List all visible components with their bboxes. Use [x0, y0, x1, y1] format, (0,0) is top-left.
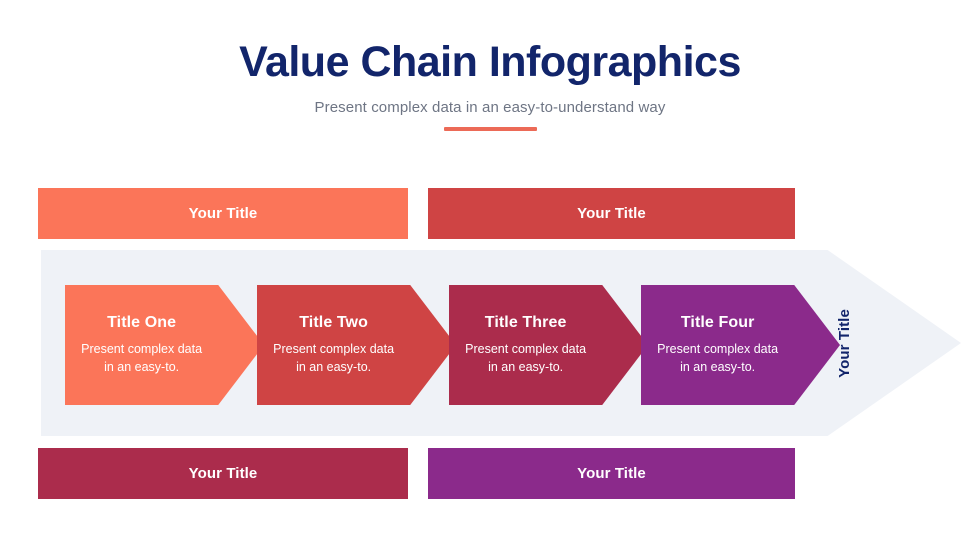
value-chain-step-4-title: Title Four [681, 314, 755, 332]
value-chain-step-1-description: Present complex data in an easy-to. [77, 341, 207, 377]
top-title-bar-2-label: Your Title [577, 205, 646, 222]
title-accent-underline [444, 127, 537, 131]
value-chain-step-1-content: Title One Present complex data in an eas… [65, 285, 218, 405]
value-chain-step-2-description: Present complex data in an easy-to. [269, 341, 399, 377]
bottom-title-bar-1-label: Your Title [189, 465, 258, 482]
page-title: Value Chain Infographics [0, 0, 980, 87]
value-chain-step-3-description: Present complex data in an easy-to. [461, 341, 591, 377]
bottom-title-bar-2[interactable]: Your Title [428, 448, 795, 499]
bottom-title-bar-2-label: Your Title [577, 465, 646, 482]
value-chain-step-1-title: Title One [107, 314, 176, 332]
value-chain-step-3-content: Title Three Present complex data in an e… [449, 285, 602, 405]
value-chain-step-3-title: Title Three [485, 314, 567, 332]
slide-canvas: Value Chain Infographics Present complex… [0, 0, 980, 551]
value-chain-step-4-content: Title Four Present complex data in an ea… [641, 285, 794, 405]
bottom-title-bar-1[interactable]: Your Title [38, 448, 408, 499]
top-title-bar-1-label: Your Title [189, 205, 258, 222]
top-title-bar-2[interactable]: Your Title [428, 188, 795, 239]
value-chain-step-2-content: Title Two Present complex data in an eas… [257, 285, 410, 405]
top-title-bar-1[interactable]: Your Title [38, 188, 408, 239]
header: Value Chain Infographics Present complex… [0, 0, 980, 116]
value-chain-step-2-title: Title Two [299, 314, 368, 332]
page-subtitle: Present complex data in an easy-to-under… [0, 87, 980, 116]
value-chain-step-4-description: Present complex data in an easy-to. [653, 341, 783, 377]
